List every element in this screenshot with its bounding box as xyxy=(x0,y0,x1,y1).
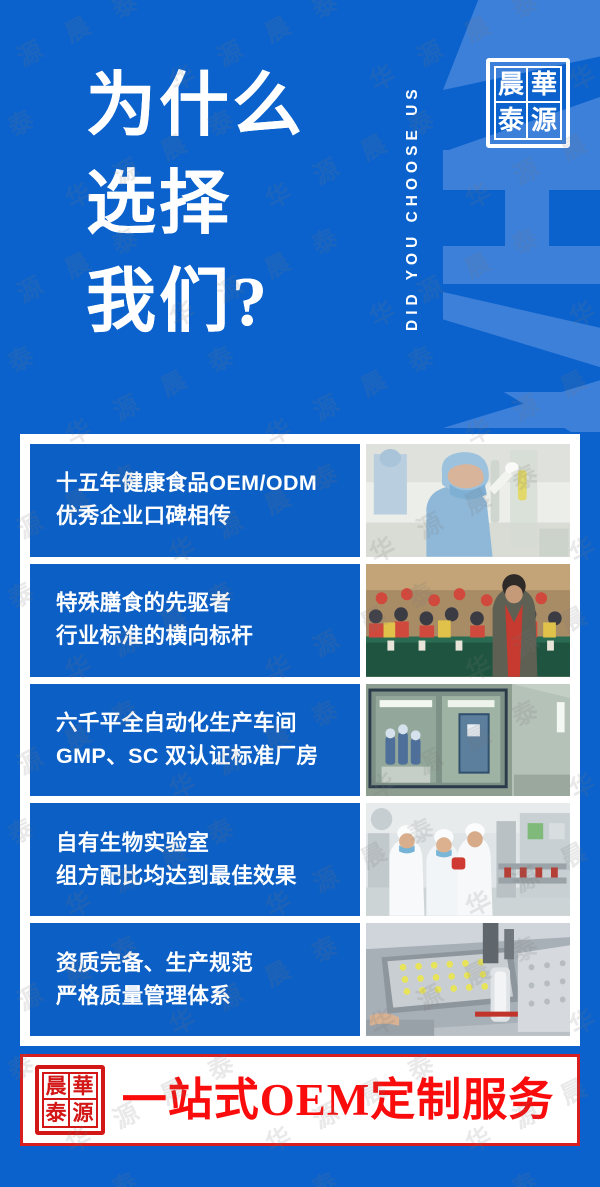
background-shape-why-3 xyxy=(443,150,600,190)
feature-card-line-1: 自有生物实验室 xyxy=(56,827,360,860)
feature-card-text: 六千平全自动化生产车间 GMP、SC 双认证标准厂房 xyxy=(30,684,360,797)
feature-card-line-1: 特殊膳食的先驱者 xyxy=(56,587,360,620)
brand-seal-red-icon: 晨 華 泰 源 xyxy=(35,1065,105,1135)
cleanroom-corridor-photo xyxy=(366,684,570,797)
brand-seal-red-char-hua: 華 xyxy=(70,1074,96,1100)
page-title-line-1: 为什么 xyxy=(86,58,386,156)
background-shape-why-4 xyxy=(505,186,549,248)
feature-card-line-2: 行业标准的横向标杆 xyxy=(56,620,360,653)
background-shape-why-6 xyxy=(443,292,600,368)
brand-seal-red-grid: 晨 華 泰 源 xyxy=(42,1072,98,1128)
watermark-text: 华 源 晨 泰 xyxy=(362,214,553,335)
brand-seal-red-char-yuan: 源 xyxy=(70,1100,96,1126)
feature-card-line-2: GMP、SC 双认证标准厂房 xyxy=(56,740,360,773)
brand-seal-char-yuan: 源 xyxy=(528,103,560,138)
brand-seal-char-chen: 晨 xyxy=(496,68,528,103)
tablet-packaging-machine-photo xyxy=(366,923,570,1036)
watermark-text: 华 源 晨 泰 xyxy=(562,1158,600,1187)
background-shape-why-8 xyxy=(443,392,600,432)
brand-seal-red-char-tai: 泰 xyxy=(44,1100,70,1126)
watermark-text: 华 源 晨 泰 xyxy=(562,214,600,335)
watermark-text: 华 源 晨 泰 xyxy=(362,1158,553,1187)
lab-technician-pipetting-photo xyxy=(366,444,570,557)
brand-seal-grid: 晨 華 泰 源 xyxy=(494,66,562,140)
feature-card-text: 资质完备、生产规范 严格质量管理体系 xyxy=(30,923,360,1036)
bottom-cta-text: 一站式OEM定制服务 xyxy=(105,1078,577,1123)
feature-cards-list: 十五年健康食品OEM/ODM 优秀企业口碑相传 xyxy=(30,444,570,1036)
feature-card-line-2: 组方配比均达到最佳效果 xyxy=(56,860,360,893)
page-title-line-2: 选择 xyxy=(86,156,386,254)
list-item[interactable]: 资质完备、生产规范 严格质量管理体系 xyxy=(30,923,570,1036)
page-title: 为什么 选择 我们? xyxy=(86,58,386,352)
brand-seal-char-hua: 華 xyxy=(528,68,560,103)
feature-card-line-1: 六千平全自动化生产车间 xyxy=(56,707,360,740)
list-item[interactable]: 十五年健康食品OEM/ODM 优秀企业口碑相传 xyxy=(30,444,570,557)
brand-seal-char-tai: 泰 xyxy=(496,103,528,138)
watermark-text: 华 源 晨 泰 xyxy=(162,1158,353,1187)
feature-card-line-2: 严格质量管理体系 xyxy=(56,980,360,1013)
list-item[interactable]: 六千平全自动化生产车间 GMP、SC 双认证标准厂房 xyxy=(30,684,570,797)
watermark-text: 华 源 晨 泰 xyxy=(0,1158,153,1187)
poster-root: 为什么 选择 我们? DID YOU CHOOSE US 晨 華 泰 源 十五年… xyxy=(0,0,600,1187)
feature-cards-frame: 十五年健康食品OEM/ODM 优秀企业口碑相传 xyxy=(20,434,580,1046)
brand-seal-icon: 晨 華 泰 源 xyxy=(486,58,570,148)
feature-card-line-1: 资质完备、生产规范 xyxy=(56,947,360,980)
feature-card-line-1: 十五年健康食品OEM/ODM xyxy=(56,467,360,500)
list-item[interactable]: 特殊膳食的先驱者 行业标准的横向标杆 xyxy=(30,564,570,677)
feature-card-text: 自有生物实验室 组方配比均达到最佳效果 xyxy=(30,803,360,916)
list-item[interactable]: 自有生物实验室 组方配比均达到最佳效果 xyxy=(30,803,570,916)
feature-card-line-2: 优秀企业口碑相传 xyxy=(56,500,360,533)
feature-card-text: 十五年健康食品OEM/ODM 优秀企业口碑相传 xyxy=(30,444,360,557)
background-shape-why-5 xyxy=(443,246,600,284)
brand-seal-red-char-chen: 晨 xyxy=(44,1074,70,1100)
bottom-cta-banner[interactable]: 晨 華 泰 源 一站式OEM定制服务 xyxy=(20,1054,580,1146)
conference-audience-photo xyxy=(366,564,570,677)
background-shape-why-7 xyxy=(443,352,600,428)
vertical-english-tagline: DID YOU CHOOSE US xyxy=(399,20,427,395)
page-title-line-3: 我们? xyxy=(86,254,386,352)
watermark-text: 华 源 晨 泰 xyxy=(0,96,49,217)
production-line-workers-photo xyxy=(366,803,570,916)
feature-card-text: 特殊膳食的先驱者 行业标准的横向标杆 xyxy=(30,564,360,677)
